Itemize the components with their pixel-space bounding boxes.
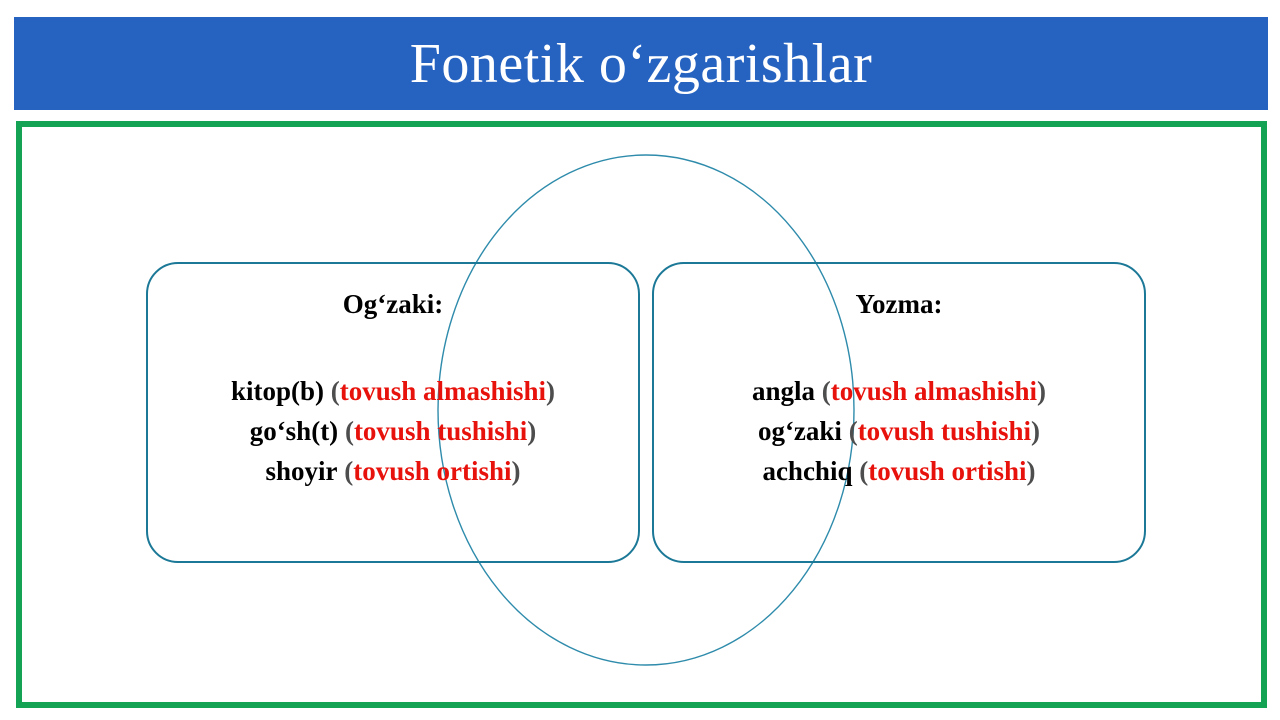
paren-close: )	[1037, 376, 1046, 406]
list-item: og‘zaki (tovush tushishi)	[758, 412, 1040, 450]
box-heading-written: Yozma:	[856, 290, 943, 320]
term-text: achchiq	[762, 456, 852, 486]
box-heading-oral: Og‘zaki:	[343, 290, 444, 320]
paren-close: )	[546, 376, 555, 406]
callout-box-oral[interactable]: Og‘zaki: kitop(b) (tovush almashishi) go…	[146, 262, 640, 563]
page-title: Fonetik o‘zgarishlar	[410, 36, 873, 92]
box-lines-written: angla (tovush almashishi) og‘zaki (tovus…	[752, 372, 1046, 491]
paren-open: (	[331, 376, 340, 406]
paren-open: (	[859, 456, 868, 486]
paren-close: )	[527, 416, 536, 446]
title-banner: Fonetik o‘zgarishlar	[14, 17, 1268, 110]
term-text: angla	[752, 376, 815, 406]
term-text: shoyir	[265, 456, 337, 486]
term-text: og‘zaki	[758, 416, 842, 446]
note-text: tovush tushishi	[354, 416, 527, 446]
paren-open: (	[849, 416, 858, 446]
paren-open: (	[822, 376, 831, 406]
paren-open: (	[344, 456, 353, 486]
term-text: go‘sh(t)	[250, 416, 339, 446]
list-item: go‘sh(t) (tovush tushishi)	[250, 412, 537, 450]
note-text: tovush ortishi	[353, 456, 511, 486]
note-text: tovush tushishi	[858, 416, 1031, 446]
term-text: kitop(b)	[231, 376, 324, 406]
list-item: angla (tovush almashishi)	[752, 372, 1046, 410]
callout-box-written[interactable]: Yozma: angla (tovush almashishi) og‘zaki…	[652, 262, 1146, 563]
list-item: achchiq (tovush ortishi)	[762, 452, 1035, 490]
paren-close: )	[1031, 416, 1040, 446]
list-item: shoyir (tovush ortishi)	[265, 452, 520, 490]
box-lines-oral: kitop(b) (tovush almashishi) go‘sh(t) (t…	[231, 372, 555, 491]
paren-close: )	[512, 456, 521, 486]
list-item: kitop(b) (tovush almashishi)	[231, 372, 555, 410]
paren-open: (	[345, 416, 354, 446]
note-text: tovush ortishi	[868, 456, 1026, 486]
note-text: tovush almashishi	[340, 376, 546, 406]
paren-close: )	[1027, 456, 1036, 486]
note-text: tovush almashishi	[831, 376, 1037, 406]
